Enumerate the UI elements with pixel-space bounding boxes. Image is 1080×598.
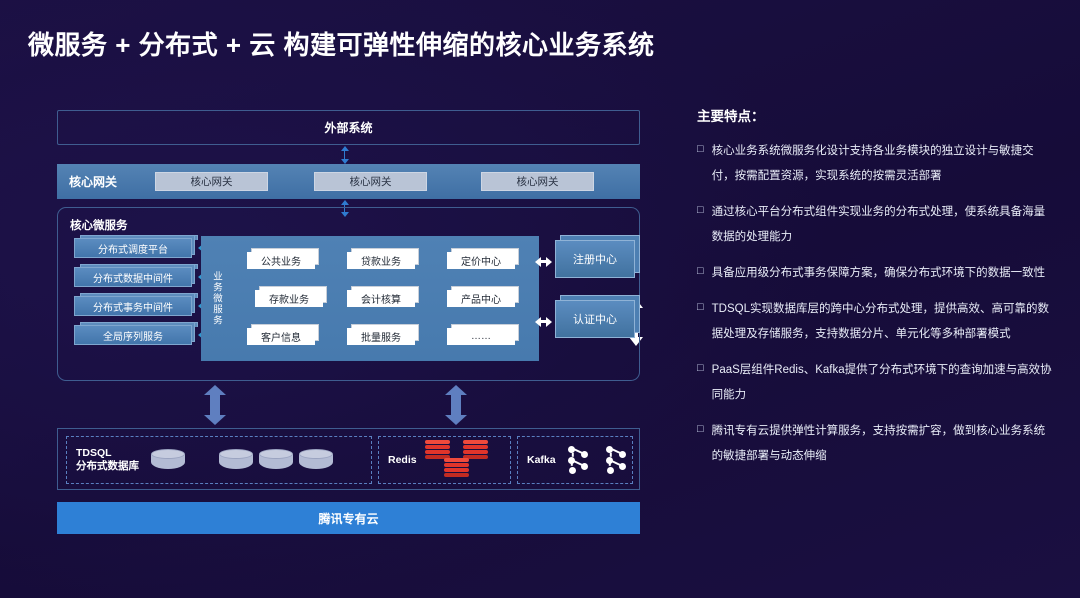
tencent-private-cloud-label: 腾讯专有云 bbox=[318, 510, 378, 527]
tencent-private-cloud-bar: 腾讯专有云 bbox=[57, 502, 640, 534]
gateway-chip: 核心网关 bbox=[314, 172, 427, 191]
auth-center-card[interactable]: 认证中心 bbox=[555, 300, 635, 338]
connector-external-to-gateway-icon bbox=[340, 146, 349, 164]
business-microservices-vertical-label: 业务微服务 bbox=[201, 236, 231, 361]
gateway-chip: 核心网关 bbox=[481, 172, 594, 191]
middleware-card[interactable]: 全局序列服务 bbox=[74, 325, 192, 345]
business-service-card[interactable]: 贷款业务 bbox=[347, 252, 415, 269]
square-bullet-icon: □ bbox=[697, 200, 704, 250]
feature-text: 腾讯专有云提供弹性计算服务，支持按需扩容，做到核心业务系统的敏捷部署与动态伸缩 bbox=[712, 419, 1053, 469]
square-bullet-icon: □ bbox=[697, 358, 704, 408]
registry-link-arrow-icon bbox=[535, 256, 552, 267]
business-service-card[interactable]: 批量服务 bbox=[347, 328, 415, 345]
business-microservices-panel: 业务微服务 公共业务 贷款业务 定价中心 存款业务 会计核算 产品中心 客户信息… bbox=[201, 236, 539, 361]
middleware-card[interactable]: 分布式事务中间件 bbox=[74, 296, 192, 316]
business-service-card[interactable]: 定价中心 bbox=[447, 252, 515, 269]
kafka-box: Kafka bbox=[517, 436, 633, 484]
square-bullet-icon: □ bbox=[697, 419, 704, 469]
feature-text: TDSQL实现数据库层的跨中心分布式处理，提供高效、高可靠的数据处理及存储服务，… bbox=[712, 297, 1053, 347]
square-bullet-icon: □ bbox=[697, 139, 704, 189]
database-cylinders bbox=[139, 449, 333, 471]
business-service-card[interactable]: 公共业务 bbox=[247, 252, 315, 269]
kafka-node-cluster-icon bbox=[604, 446, 628, 474]
core-to-data-arrow-icon bbox=[204, 385, 226, 425]
registry-center-card[interactable]: 注册中心 bbox=[555, 240, 635, 278]
tdsql-label: TDSQL 分布式数据库 bbox=[67, 447, 139, 473]
square-bullet-icon: □ bbox=[697, 297, 704, 347]
page-title: 微服务 + 分布式 + 云 构建可弹性伸缩的核心业务系统 bbox=[28, 25, 655, 62]
business-service-card[interactable]: 存款业务 bbox=[255, 290, 323, 307]
architecture-diagram: 外部系统 核心网关 核心网关 核心网关 核心网关 核心微服务 分布式调度平台 分… bbox=[57, 110, 640, 542]
feature-text: 核心业务系统微服务化设计支持各业务模块的独立设计与敏捷交付，按需配置资源，实现系… bbox=[712, 139, 1053, 189]
business-service-card[interactable]: 会计核算 bbox=[347, 290, 415, 307]
platform-centers-column: 注册中心 认证中心 bbox=[555, 240, 635, 360]
business-service-card[interactable]: 客户信息 bbox=[247, 328, 315, 345]
core-gateway-bar: 核心网关 核心网关 核心网关 核心网关 bbox=[57, 164, 640, 199]
features-panel: 主要特点： □ 核心业务系统微服务化设计支持各业务模块的独立设计与敏捷交付，按需… bbox=[697, 105, 1053, 480]
data-layer-container: TDSQL 分布式数据库 Redis Kafka bbox=[57, 428, 640, 490]
database-cylinder-icon bbox=[259, 449, 293, 471]
middleware-card[interactable]: 分布式数据中间件 bbox=[74, 267, 192, 287]
middleware-card[interactable]: 分布式调度平台 bbox=[74, 238, 192, 258]
feature-item: □ 具备应用级分布式事务保障方案，确保分布式环境下的数据一致性 bbox=[697, 261, 1053, 286]
core-to-data-arrow-icon bbox=[445, 385, 467, 425]
feature-item: □ PaaS层组件Redis、Kafka提供了分布式环境下的查询加速与高效协同能… bbox=[697, 358, 1053, 408]
tdsql-box: TDSQL 分布式数据库 bbox=[66, 436, 372, 484]
database-cylinder-icon bbox=[151, 449, 185, 471]
kafka-label: Kafka bbox=[518, 454, 556, 467]
kafka-logo-icon bbox=[566, 446, 628, 474]
feature-item: □ TDSQL实现数据库层的跨中心分布式处理，提供高效、高可靠的数据处理及存储服… bbox=[697, 297, 1053, 347]
middleware-column: 分布式调度平台 分布式数据中间件 分布式事务中间件 全局序列服务 bbox=[74, 238, 192, 354]
core-gateway-title: 核心网关 bbox=[69, 173, 155, 190]
feature-text: 具备应用级分布式事务保障方案，确保分布式环境下的数据一致性 bbox=[712, 261, 1046, 286]
database-cylinder-icon bbox=[219, 449, 253, 471]
auth-link-arrow-icon bbox=[535, 316, 552, 327]
feature-item: □ 腾讯专有云提供弹性计算服务，支持按需扩容，做到核心业务系统的敏捷部署与动态伸… bbox=[697, 419, 1053, 469]
external-system-box: 外部系统 bbox=[57, 110, 640, 145]
business-service-card[interactable]: 产品中心 bbox=[447, 290, 515, 307]
feature-item: □ 核心业务系统微服务化设计支持各业务模块的独立设计与敏捷交付，按需配置资源，实… bbox=[697, 139, 1053, 189]
feature-text: 通过核心平台分布式组件实现业务的分布式处理，使系统具备海量数据的处理能力 bbox=[712, 200, 1053, 250]
core-microservices-title: 核心微服务 bbox=[70, 217, 128, 233]
business-service-card[interactable]: …… bbox=[447, 328, 515, 345]
feature-text: PaaS层组件Redis、Kafka提供了分布式环境下的查询加速与高效协同能力 bbox=[712, 358, 1053, 408]
redis-box: Redis bbox=[378, 436, 511, 484]
external-system-label: 外部系统 bbox=[324, 119, 372, 136]
redis-logo-icon bbox=[421, 438, 501, 482]
kafka-node-cluster-icon bbox=[566, 446, 590, 474]
tdsql-label-line2: 分布式数据库 bbox=[76, 460, 139, 473]
features-title: 主要特点： bbox=[697, 105, 1053, 125]
core-microservices-container: 核心微服务 分布式调度平台 分布式数据中间件 分布式事务中间件 全局序列服务 业… bbox=[57, 207, 640, 381]
business-services-grid: 公共业务 贷款业务 定价中心 存款业务 会计核算 产品中心 客户信息 批量服务 … bbox=[231, 236, 539, 361]
gateway-chip: 核心网关 bbox=[155, 172, 268, 191]
redis-label: Redis bbox=[379, 454, 417, 467]
tdsql-label-line1: TDSQL bbox=[76, 447, 139, 460]
database-cylinder-icon bbox=[299, 449, 333, 471]
feature-item: □ 通过核心平台分布式组件实现业务的分布式处理，使系统具备海量数据的处理能力 bbox=[697, 200, 1053, 250]
square-bullet-icon: □ bbox=[697, 261, 704, 286]
